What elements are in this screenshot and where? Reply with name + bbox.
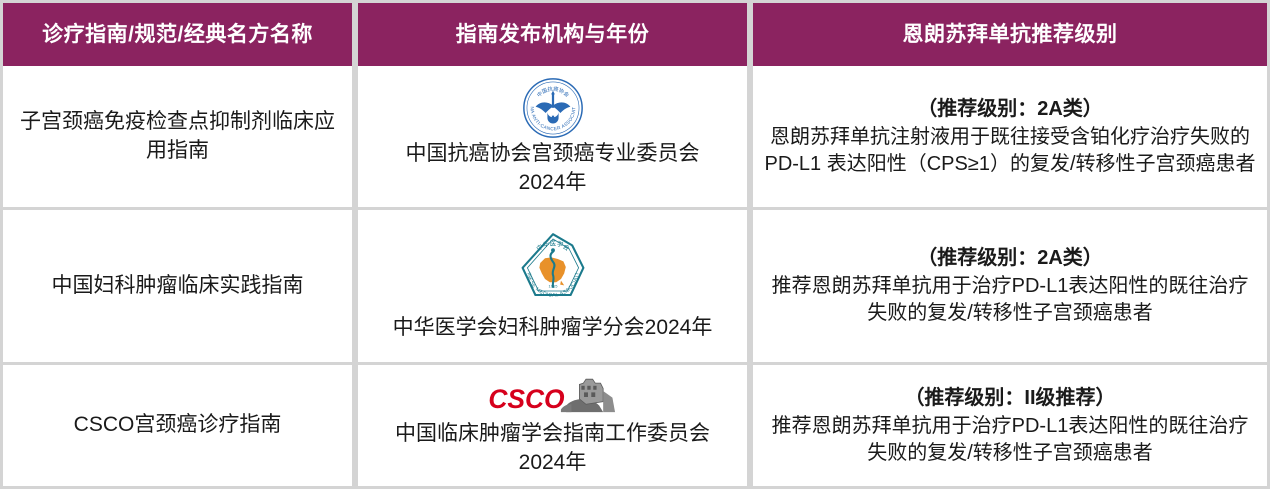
guideline-name-text: 子宫颈癌免疫检查点抑制剂临床应用指南 [13,108,342,166]
guideline-recommendation-table: 诊疗指南/规范/经典名方名称 指南发布机构与年份 恩朗苏拜单抗推荐级别 子宫颈癌… [0,0,1270,489]
csco-logo: CSCO [487,375,619,419]
column-header-guideline-name: 诊疗指南/规范/经典名方名称 [3,3,352,66]
table-row: 子宫颈癌免疫检查点抑制剂临床应用指南 中国抗癌协会 CHINA ANTI-CAN… [3,66,1267,207]
cell-organization: CSCO 中国临床肿瘤 [358,365,747,486]
recommendation-description: 恩朗苏拜单抗注射液用于既往接受含铂化疗治疗失败的 PD-L1 表达阳性（CPS≥… [763,124,1257,178]
recommendation-description: 推荐恩朗苏拜单抗用于治疗PD-L1表达阳性的既往治疗失败的复发/转移性子宫颈癌患… [763,413,1257,467]
cell-recommendation: （推荐级别：2A类） 推荐恩朗苏拜单抗用于治疗PD-L1表达阳性的既往治疗失败的… [753,210,1267,362]
publication-year: 2024年 [519,170,587,196]
csco-wordmark: CSCO [488,384,565,414]
recommendation-description: 推荐恩朗苏拜单抗用于治疗PD-L1表达阳性的既往治疗失败的复发/转移性子宫颈癌患… [763,273,1257,327]
organization-name: 中国抗癌协会宫颈癌专业委员会 [406,141,700,167]
svg-text:1915: 1915 [548,283,558,288]
cell-organization: 中国抗癌协会 CHINA ANTI-CANCER ASSOCIATION 中国抗… [358,66,747,207]
cell-recommendation: （推荐级别：II级推荐） 推荐恩朗苏拜单抗用于治疗PD-L1表达阳性的既往治疗失… [753,365,1267,486]
guideline-name-text: 中国妇科肿瘤临床实践指南 [52,272,304,301]
organization-name: 中国临床肿瘤学会指南工作委员会 [395,421,710,447]
caca-logo: 中国抗癌协会 CHINA ANTI-CANCER ASSOCIATION [522,77,584,139]
cell-guideline-name: 中国妇科肿瘤临床实践指南 [3,210,352,362]
recommendation-level-badge: （推荐级别：II级推荐） [904,385,1115,412]
column-header-recommendation-level: 恩朗苏拜单抗推荐级别 [753,3,1267,66]
table-body: 子宫颈癌免疫检查点抑制剂临床应用指南 中国抗癌协会 CHINA ANTI-CAN… [0,66,1270,489]
organization-name: 中华医学会妇科肿瘤学分会2024年 [393,315,713,341]
cell-guideline-name: 子宫颈癌免疫检查点抑制剂临床应用指南 [3,66,352,207]
cell-recommendation: （推荐级别：2A类） 恩朗苏拜单抗注射液用于既往接受含铂化疗治疗失败的 PD-L… [753,66,1267,207]
cma-logo: 中华医学会 CHINESE MEDICAL ASSOCIATION 1915 [510,231,596,313]
column-header-organization-year: 指南发布机构与年份 [358,3,747,66]
table-header-row: 诊疗指南/规范/经典名方名称 指南发布机构与年份 恩朗苏拜单抗推荐级别 [0,0,1270,66]
recommendation-level-badge: （推荐级别：2A类） [917,96,1103,123]
publication-year: 2024年 [519,450,587,476]
recommendation-level-badge: （推荐级别：2A类） [917,245,1103,272]
guideline-name-text: CSCO宫颈癌诊疗指南 [74,411,282,440]
table-row: CSCO宫颈癌诊疗指南 CSCO [3,365,1267,486]
cell-guideline-name: CSCO宫颈癌诊疗指南 [3,365,352,486]
cell-organization: 中华医学会 CHINESE MEDICAL ASSOCIATION 1915 中… [358,210,747,362]
table-row: 中国妇科肿瘤临床实践指南 中华医学会 CHINESE MEDICAL ASSOC… [3,210,1267,362]
